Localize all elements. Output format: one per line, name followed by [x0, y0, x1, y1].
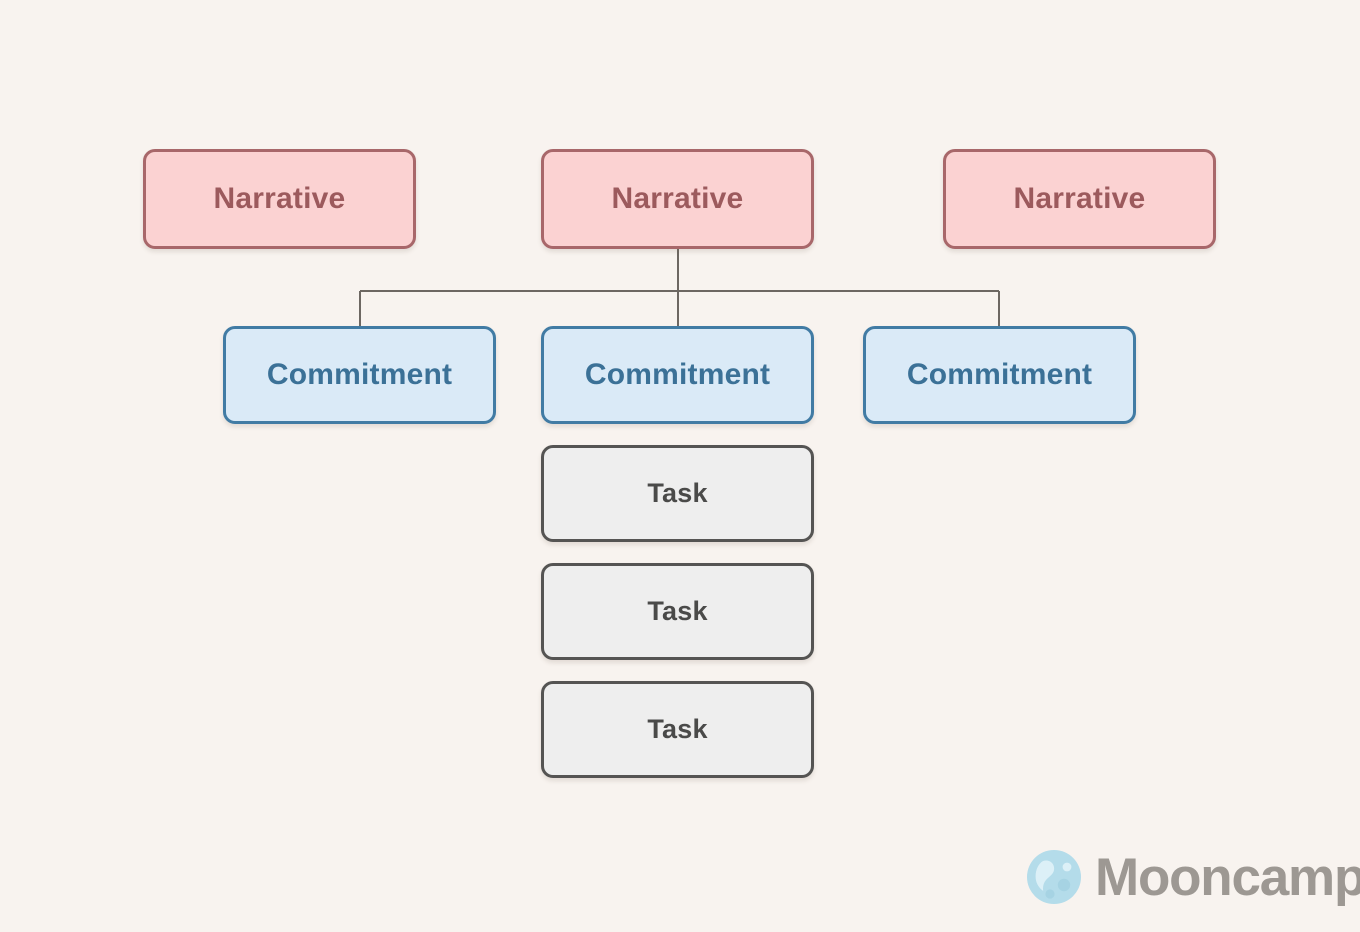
- node-narrative-center[interactable]: Narrative: [541, 149, 814, 249]
- node-label: Task: [647, 716, 707, 743]
- node-label: Task: [647, 480, 707, 507]
- node-commitment-right[interactable]: Commitment: [863, 326, 1136, 424]
- node-narrative-right[interactable]: Narrative: [943, 149, 1216, 249]
- node-commitment-center[interactable]: Commitment: [541, 326, 814, 424]
- node-label: Commitment: [907, 360, 1092, 390]
- node-label: Commitment: [267, 360, 452, 390]
- node-task-3[interactable]: Task: [541, 681, 814, 778]
- moon-icon: [1026, 849, 1082, 905]
- brand-logo: Mooncamp: [1026, 849, 1360, 905]
- brand-name: Mooncamp: [1095, 851, 1360, 904]
- node-task-2[interactable]: Task: [541, 563, 814, 660]
- node-label: Narrative: [214, 184, 346, 214]
- node-task-1[interactable]: Task: [541, 445, 814, 542]
- node-label: Task: [647, 598, 707, 625]
- node-label: Narrative: [612, 184, 744, 214]
- node-narrative-left[interactable]: Narrative: [143, 149, 416, 249]
- diagram-canvas: Narrative Narrative Narrative Commitment…: [0, 0, 1360, 932]
- node-label: Commitment: [585, 360, 770, 390]
- node-commitment-left[interactable]: Commitment: [223, 326, 496, 424]
- node-label: Narrative: [1014, 184, 1146, 214]
